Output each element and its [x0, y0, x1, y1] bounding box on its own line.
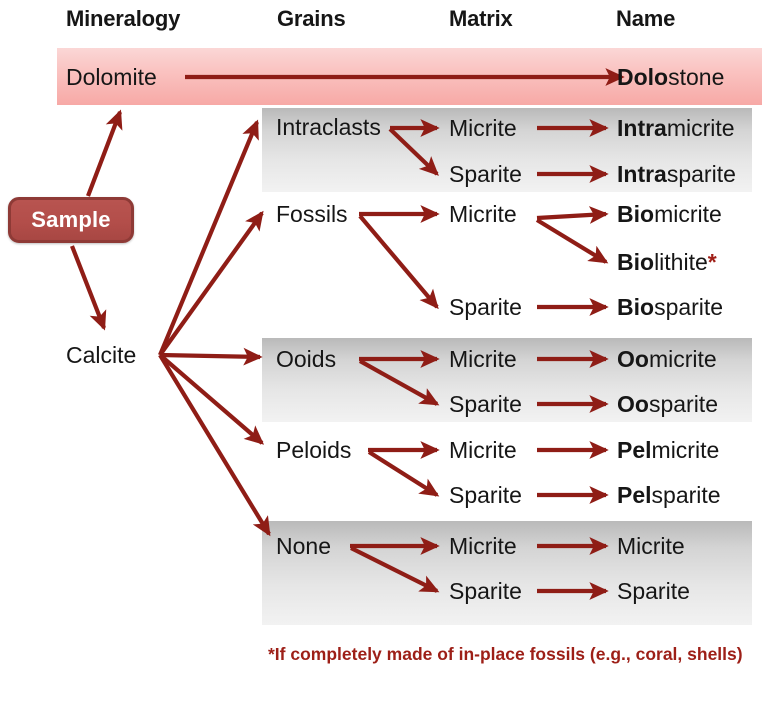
node-name-micrite[interactable]: Micrite: [617, 535, 685, 558]
name-suffix: micrite: [649, 346, 717, 372]
name-prefix: Oo: [617, 391, 649, 417]
node-matrix-none-micrite[interactable]: Micrite: [449, 535, 517, 558]
name-suffix: stone: [668, 64, 724, 90]
arrow-micrite-to-biomicrite: [537, 214, 606, 218]
node-matrix-ooids-sparite[interactable]: Sparite: [449, 393, 522, 416]
name-prefix: Bio: [617, 294, 654, 320]
arrow-calcite-to-fossils: [160, 213, 262, 355]
arrow-calcite-to-peloids: [160, 355, 262, 443]
footnote-marker-icon: *: [708, 249, 717, 275]
arrow-micrite-to-biolithite: [537, 220, 606, 262]
node-name-oosparite[interactable]: Oosparite: [617, 393, 718, 416]
node-none[interactable]: None: [276, 535, 331, 558]
node-matrix-fossils-micrite[interactable]: Micrite: [449, 203, 517, 226]
name-suffix: sparite: [667, 161, 736, 187]
node-matrix-none-sparite[interactable]: Sparite: [449, 580, 522, 603]
arrow-calcite-to-none: [160, 355, 269, 534]
name-suffix: micrite: [667, 115, 735, 141]
arrow-calcite-to-intraclasts: [160, 122, 257, 355]
node-name-biomicrite[interactable]: Biomicrite: [617, 203, 722, 226]
node-ooids[interactable]: Ooids: [276, 348, 336, 371]
name-suffix: Micrite: [617, 533, 685, 559]
name-suffix: sparite: [654, 294, 723, 320]
node-calcite[interactable]: Calcite: [66, 344, 136, 367]
node-matrix-intraclasts-sparite[interactable]: Sparite: [449, 163, 522, 186]
column-header-grains: Grains: [277, 8, 346, 30]
node-matrix-fossils-sparite[interactable]: Sparite: [449, 296, 522, 319]
arrow-fossils-to-sparite: [360, 216, 437, 307]
footnote-text: *If completely made of in-place fossils …: [268, 643, 748, 667]
name-prefix: Pel: [617, 437, 652, 463]
arrow-peloids-to-sparite: [369, 452, 437, 495]
node-name-pelsparite[interactable]: Pelsparite: [617, 484, 721, 507]
diagram-canvas: Mineralogy Grains Matrix Name Dolomite C…: [0, 0, 768, 702]
column-header-matrix: Matrix: [449, 8, 513, 30]
name-suffix: sparite: [649, 391, 718, 417]
name-suffix: micrite: [652, 437, 720, 463]
node-fossils[interactable]: Fossils: [276, 203, 348, 226]
node-name-sparite[interactable]: Sparite: [617, 580, 690, 603]
name-prefix: Bio: [617, 201, 654, 227]
node-matrix-peloids-sparite[interactable]: Sparite: [449, 484, 522, 507]
sample-box[interactable]: Sample: [8, 197, 134, 243]
name-prefix: Dolo: [617, 64, 668, 90]
node-peloids[interactable]: Peloids: [276, 439, 351, 462]
node-intraclasts[interactable]: Intraclasts: [276, 116, 381, 139]
node-matrix-intraclasts-micrite[interactable]: Micrite: [449, 117, 517, 140]
name-prefix: Bio: [617, 249, 654, 275]
arrow-sample-to-calcite: [72, 246, 104, 328]
node-name-dolostone[interactable]: Dolostone: [617, 66, 724, 89]
node-name-biolithite[interactable]: Biolithite*: [617, 251, 717, 274]
name-prefix: Intra: [617, 161, 667, 187]
node-name-pelmicrite[interactable]: Pelmicrite: [617, 439, 719, 462]
node-name-intramicrite[interactable]: Intramicrite: [617, 117, 735, 140]
node-matrix-ooids-micrite[interactable]: Micrite: [449, 348, 517, 371]
name-suffix: Sparite: [617, 578, 690, 604]
node-name-oomicrite[interactable]: Oomicrite: [617, 348, 717, 371]
column-header-name: Name: [616, 8, 675, 30]
name-suffix: lithite: [654, 249, 708, 275]
sample-label: Sample: [31, 207, 110, 233]
name-prefix: Pel: [617, 482, 652, 508]
node-matrix-peloids-micrite[interactable]: Micrite: [449, 439, 517, 462]
arrow-calcite-to-ooids: [160, 355, 260, 357]
arrow-sample-to-dolomite: [88, 112, 120, 196]
name-prefix: Intra: [617, 115, 667, 141]
name-suffix: sparite: [652, 482, 721, 508]
name-suffix: micrite: [654, 201, 722, 227]
node-name-intrasparite[interactable]: Intrasparite: [617, 163, 736, 186]
name-prefix: Oo: [617, 346, 649, 372]
node-name-biosparite[interactable]: Biosparite: [617, 296, 723, 319]
column-header-mineralogy: Mineralogy: [66, 8, 180, 30]
node-dolomite[interactable]: Dolomite: [66, 66, 157, 89]
